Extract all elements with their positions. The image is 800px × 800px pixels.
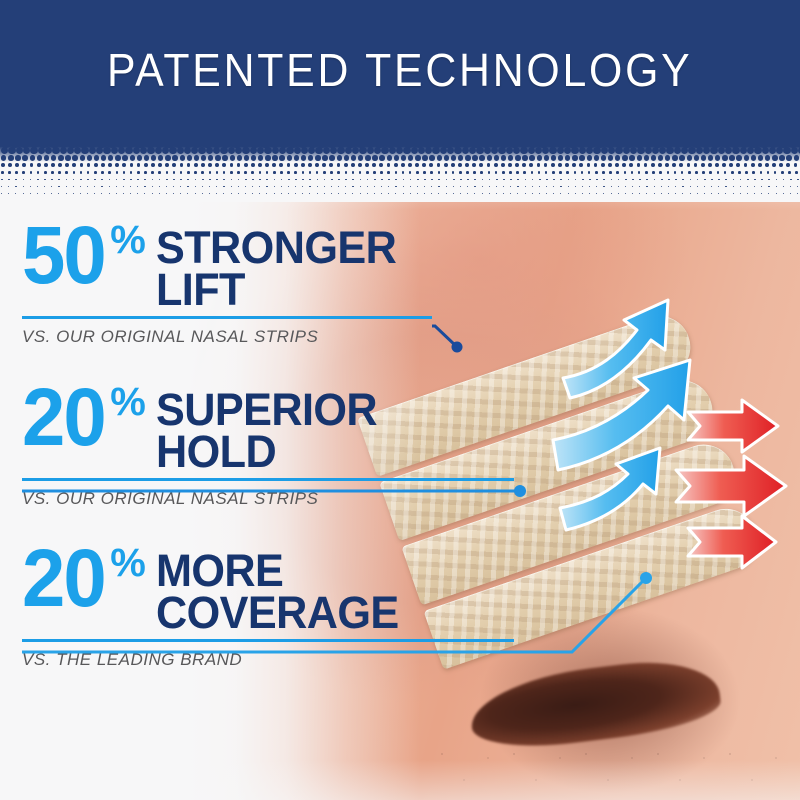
halftone-dot	[394, 155, 399, 160]
claim-block-superior-hold: 20 % SUPERIOR HOLD VS. OUR ORIGINAL NASA…	[22, 384, 452, 509]
halftone-dot	[87, 186, 88, 187]
halftone-dot	[674, 171, 677, 174]
halftone-dot	[245, 193, 246, 194]
halftone-dot	[372, 155, 377, 160]
halftone-dot	[184, 147, 191, 154]
halftone-dot	[498, 147, 505, 154]
halftone-dot	[30, 155, 35, 160]
halftone-dot	[651, 163, 655, 167]
halftone-dot	[668, 179, 670, 181]
halftone-dot	[65, 155, 70, 160]
halftone-dot	[675, 193, 676, 194]
halftone-dot	[437, 163, 441, 167]
halftone-dot	[537, 155, 542, 160]
halftone-dot	[747, 179, 749, 181]
claim-percent-number: 20	[22, 384, 105, 453]
halftone-dot	[467, 193, 468, 194]
halftone-dot	[58, 179, 60, 181]
halftone-dot	[72, 163, 76, 167]
halftone-dot	[629, 163, 633, 167]
halftone-dot	[231, 179, 233, 181]
halftone-dot	[80, 155, 85, 160]
halftone-dot	[715, 155, 720, 160]
halftone-dot	[87, 163, 91, 167]
halftone-dot	[423, 171, 426, 174]
halftone-dot	[37, 163, 41, 167]
halftone-dot	[572, 155, 577, 160]
halftone-dot	[549, 147, 556, 154]
halftone-dot	[152, 179, 154, 181]
halftone-dot	[109, 179, 111, 181]
halftone-dot	[601, 155, 606, 160]
halftone-dot	[608, 147, 615, 154]
halftone-dot	[345, 147, 352, 154]
halftone-dot	[687, 155, 692, 160]
halftone-dot	[231, 186, 232, 187]
halftone-dot	[237, 163, 241, 167]
halftone-dot	[396, 147, 403, 154]
halftone-dot	[15, 171, 18, 174]
halftone-dot	[279, 163, 283, 167]
halftone-dot	[137, 163, 141, 167]
halftone-dot	[272, 155, 277, 160]
halftone-dot	[418, 147, 425, 154]
halftone-dot	[646, 179, 648, 181]
halftone-dot	[672, 155, 677, 160]
halftone-dot	[317, 186, 318, 187]
halftone-dot	[682, 179, 684, 181]
halftone-dot	[137, 155, 142, 160]
halftone-dot	[489, 193, 490, 194]
claim-block-stronger-lift: 50 % STRONGER LIFT VS. OUR ORIGINAL NASA…	[22, 222, 452, 347]
halftone-dot	[213, 147, 220, 154]
halftone-dot	[8, 179, 10, 181]
halftone-dot	[259, 193, 260, 194]
halftone-dot	[173, 186, 174, 187]
halftone-dot	[588, 171, 591, 174]
halftone-dot	[118, 147, 125, 154]
halftone-dot	[216, 186, 217, 187]
halftone-dot	[458, 163, 462, 167]
halftone-dot	[432, 147, 439, 154]
halftone-dot	[380, 171, 383, 174]
halftone-dot	[272, 147, 279, 154]
halftone-dot	[644, 155, 649, 160]
halftone-dot	[417, 193, 418, 194]
halftone-dot	[216, 171, 219, 174]
halftone-dot	[697, 179, 699, 181]
halftone-dot	[690, 186, 691, 187]
halftone-dot	[387, 171, 390, 174]
halftone-dot	[367, 186, 368, 187]
halftone-dot	[172, 163, 176, 167]
halftone-dot	[725, 179, 727, 181]
halftone-dot	[330, 147, 337, 154]
halftone-dot	[517, 186, 518, 187]
halftone-dot	[187, 171, 190, 174]
halftone-dot	[495, 171, 498, 174]
halftone-dot	[230, 171, 233, 174]
halftone-dot	[58, 193, 59, 194]
halftone-dot	[472, 155, 477, 160]
halftone-dot	[230, 155, 235, 160]
halftone-dot	[238, 186, 239, 187]
halftone-dot	[488, 171, 491, 174]
halftone-dot	[51, 163, 55, 167]
halftone-dot	[646, 186, 647, 187]
claim-percent-number: 20	[22, 545, 105, 614]
halftone-dot	[790, 179, 792, 181]
halftone-dot	[429, 155, 434, 160]
halftone-dot	[790, 193, 791, 194]
halftone-dot	[302, 186, 303, 187]
halftone-dot	[466, 171, 469, 174]
halftone-dot	[337, 171, 340, 174]
halftone-dot	[22, 163, 26, 167]
halftone-dot	[772, 163, 776, 167]
halftone-dot	[431, 193, 432, 194]
halftone-dot	[15, 179, 17, 181]
halftone-dot	[652, 171, 655, 174]
halftone-dot	[1, 171, 4, 174]
halftone-dot	[688, 171, 691, 174]
halftone-dot	[687, 163, 691, 167]
halftone-dot	[665, 163, 669, 167]
halftone-dot	[510, 186, 511, 187]
halftone-dot	[266, 179, 268, 181]
halftone-dot	[790, 186, 791, 187]
halftone-dot	[37, 155, 42, 160]
halftone-dot	[159, 186, 160, 187]
halftone-dot	[708, 155, 713, 160]
halftone-dot	[722, 155, 727, 160]
halftone-dot	[23, 147, 30, 154]
halftone-dot	[15, 155, 20, 160]
halftone-dot	[96, 147, 103, 154]
halftone-dot	[718, 186, 719, 187]
halftone-dot	[51, 155, 56, 160]
halftone-dot	[454, 147, 461, 154]
halftone-dot	[425, 147, 432, 154]
halftone-dot	[733, 179, 735, 181]
halftone-dot	[237, 171, 240, 174]
halftone-dot	[474, 179, 476, 181]
halftone-dot	[116, 193, 117, 194]
halftone-dot	[144, 186, 145, 187]
halftone-dot	[159, 179, 161, 181]
halftone-dot	[422, 163, 426, 167]
halftone-dot	[765, 163, 769, 167]
halftone-dot	[417, 186, 418, 187]
halftone-dot	[484, 147, 491, 154]
halftone-dot	[130, 186, 131, 187]
page-title: PATENTED TECHNOLOGY	[107, 43, 692, 97]
halftone-dot	[172, 155, 177, 160]
halftone-dot	[444, 163, 448, 167]
halftone-dot	[281, 179, 283, 181]
halftone-dot	[165, 163, 169, 167]
halftone-dot	[480, 171, 483, 174]
halftone-dot	[317, 193, 318, 194]
halftone-dot	[761, 193, 762, 194]
halftone-dot	[776, 186, 777, 187]
halftone-dot	[467, 179, 469, 181]
halftone-dot	[783, 147, 790, 154]
halftone-dot	[202, 193, 203, 194]
halftone-dot	[352, 147, 359, 154]
halftone-dot	[280, 171, 283, 174]
halftone-dot	[208, 163, 212, 167]
halftone-dot	[195, 186, 196, 187]
halftone-dot	[465, 155, 470, 160]
halftone-dot	[722, 163, 726, 167]
halftone-dot	[388, 186, 389, 187]
halftone-dot	[513, 147, 520, 154]
halftone-dot	[252, 179, 254, 181]
claim-label-line-1: MORE	[156, 550, 399, 592]
halftone-dot	[281, 193, 282, 194]
halftone-dot	[1, 179, 3, 181]
claim-heading: 20 % SUPERIOR HOLD	[22, 384, 452, 473]
halftone-dot	[675, 186, 676, 187]
halftone-dot	[772, 155, 777, 160]
halftone-dot	[622, 163, 626, 167]
halftone-dot	[637, 155, 642, 160]
halftone-dot	[632, 179, 634, 181]
halftone-row	[0, 140, 800, 147]
halftone-dot	[489, 186, 490, 187]
halftone-dot	[565, 155, 570, 160]
halftone-dot	[539, 186, 540, 187]
halftone-dot	[589, 179, 591, 181]
halftone-dot	[373, 171, 376, 174]
halftone-dot	[301, 163, 305, 167]
halftone-dot	[166, 193, 167, 194]
halftone-dot	[324, 193, 325, 194]
halftone-dot	[446, 186, 447, 187]
halftone-dot	[696, 147, 703, 154]
halftone-dot	[731, 171, 734, 174]
halftone-dot	[287, 171, 290, 174]
halftone-dot	[394, 163, 398, 167]
halftone-dot	[618, 179, 620, 181]
halftone-dot	[786, 155, 791, 160]
halftone-dot	[615, 155, 620, 160]
halftone-dot	[523, 171, 526, 174]
claim-divider-rule	[22, 478, 514, 481]
halftone-dot	[709, 171, 712, 174]
halftone-dot	[264, 147, 271, 154]
halftone-dot	[769, 147, 776, 154]
halftone-dot	[740, 179, 742, 181]
halftone-dot	[115, 155, 120, 160]
halftone-dot	[587, 155, 592, 160]
halftone-dot	[754, 147, 761, 154]
halftone-dot	[22, 155, 27, 160]
halftone-dot	[724, 171, 727, 174]
halftone-dot	[345, 186, 346, 187]
halftone-dot	[130, 171, 133, 174]
halftone-dot	[315, 147, 322, 154]
halftone-dot	[625, 193, 626, 194]
halftone-dot	[438, 179, 440, 181]
halftone-dot	[415, 163, 419, 167]
halftone-dot	[166, 179, 168, 181]
halftone-dot	[338, 193, 339, 194]
claim-percent-number: 50	[22, 222, 105, 291]
halftone-dot	[517, 179, 519, 181]
halftone-dot	[715, 163, 719, 167]
halftone-dot	[681, 147, 688, 154]
halftone-dot	[453, 193, 454, 194]
halftone-dot	[582, 186, 583, 187]
halftone-dot	[201, 155, 206, 160]
halftone-dot	[745, 171, 748, 174]
halftone-dot	[37, 179, 39, 181]
halftone-dot	[73, 186, 74, 187]
halftone-dot	[703, 147, 710, 154]
halftone-dot	[639, 179, 641, 181]
halftone-dot	[586, 147, 593, 154]
halftone-dot	[123, 179, 125, 181]
halftone-dot	[618, 186, 619, 187]
halftone-dot	[603, 186, 604, 187]
halftone-dot	[365, 155, 370, 160]
halftone-dot	[259, 186, 260, 187]
halftone-dot	[74, 147, 81, 154]
halftone-dot	[503, 186, 504, 187]
halftone-dot	[560, 179, 562, 181]
halftone-dot	[308, 155, 313, 160]
halftone-dot	[783, 186, 784, 187]
halftone-dot	[1, 163, 5, 167]
halftone-dot	[15, 193, 16, 194]
halftone-dot	[51, 179, 53, 181]
halftone-dot	[187, 193, 188, 194]
halftone-dot	[765, 155, 770, 160]
claim-caption: VS. OUR ORIGINAL NASAL STRIPS	[22, 489, 452, 509]
halftone-dot	[679, 163, 683, 167]
halftone-dot	[352, 193, 353, 194]
halftone-dot	[438, 171, 441, 174]
halftone-dot	[58, 155, 63, 160]
halftone-dot	[381, 193, 382, 194]
halftone-dot	[103, 147, 110, 154]
halftone-dot	[223, 186, 224, 187]
halftone-dot	[65, 171, 68, 174]
halftone-dot	[646, 193, 647, 194]
halftone-dot	[215, 155, 220, 160]
halftone-dot	[639, 193, 640, 194]
halftone-dot	[754, 186, 755, 187]
halftone-dot	[751, 155, 756, 160]
halftone-row	[0, 154, 800, 161]
halftone-dot	[539, 193, 540, 194]
halftone-dot	[274, 193, 275, 194]
halftone-dot	[401, 163, 405, 167]
halftone-dot	[358, 163, 362, 167]
halftone-dot	[460, 193, 461, 194]
halftone-dot	[658, 163, 662, 167]
halftone-dot	[551, 155, 556, 160]
halftone-dot	[130, 193, 131, 194]
halftone-dot	[87, 155, 92, 160]
halftone-dot	[294, 155, 299, 160]
halftone-dot	[774, 171, 777, 174]
halftone-dot	[130, 163, 134, 167]
halftone-dot	[367, 193, 368, 194]
halftone-dot	[496, 193, 497, 194]
halftone-dot	[309, 193, 310, 194]
halftone-dot	[532, 193, 533, 194]
halftone-dot	[638, 171, 641, 174]
halftone-dot	[258, 163, 262, 167]
halftone-dot	[747, 193, 748, 194]
halftone-dot	[109, 193, 110, 194]
halftone-dot	[288, 179, 290, 181]
halftone-dot	[1, 193, 2, 194]
halftone-dot	[302, 179, 304, 181]
halftone-dot	[222, 163, 226, 167]
claim-heading: 50 % STRONGER LIFT	[22, 222, 452, 311]
halftone-dot	[542, 147, 549, 154]
halftone-dot	[209, 171, 212, 174]
halftone-dot	[544, 155, 549, 160]
halftone-dot	[122, 155, 127, 160]
halftone-dot	[430, 171, 433, 174]
halftone-dot	[601, 163, 605, 167]
halftone-dot	[309, 179, 311, 181]
halftone-dot	[202, 186, 203, 187]
halftone-dot	[509, 171, 512, 174]
halftone-dot	[202, 179, 204, 181]
halftone-dot	[279, 147, 286, 154]
halftone-dot	[331, 193, 332, 194]
halftone-dot	[416, 171, 419, 174]
halftone-dot	[223, 171, 226, 174]
halftone-dot	[589, 186, 590, 187]
halftone-dot	[101, 179, 103, 181]
halftone-dot	[316, 171, 319, 174]
halftone-dot	[173, 171, 176, 174]
halftone-dot	[725, 193, 726, 194]
halftone-dot	[151, 163, 155, 167]
halftone-dot	[216, 193, 217, 194]
halftone-dot	[294, 171, 297, 174]
halftone-dot	[794, 155, 799, 160]
halftone-dot	[198, 147, 205, 154]
halftone-dot	[308, 163, 312, 167]
halftone-dot	[209, 179, 211, 181]
halftone-dot	[668, 193, 669, 194]
halftone-dot	[23, 179, 25, 181]
halftone-dot	[740, 193, 741, 194]
halftone-dot	[553, 193, 554, 194]
halftone-dot	[768, 193, 769, 194]
halftone-dot	[786, 163, 790, 167]
halftone-dot	[659, 147, 666, 154]
halftone-dot	[351, 155, 356, 160]
halftone-dot	[111, 147, 118, 154]
halftone-dot	[415, 155, 420, 160]
halftone-dot	[768, 179, 770, 181]
halftone-dot	[101, 186, 102, 187]
halftone-dot	[194, 171, 197, 174]
halftone-dot	[781, 171, 784, 174]
halftone-dot	[266, 171, 269, 174]
halftone-dot	[494, 163, 498, 167]
halftone-dot	[459, 171, 462, 174]
